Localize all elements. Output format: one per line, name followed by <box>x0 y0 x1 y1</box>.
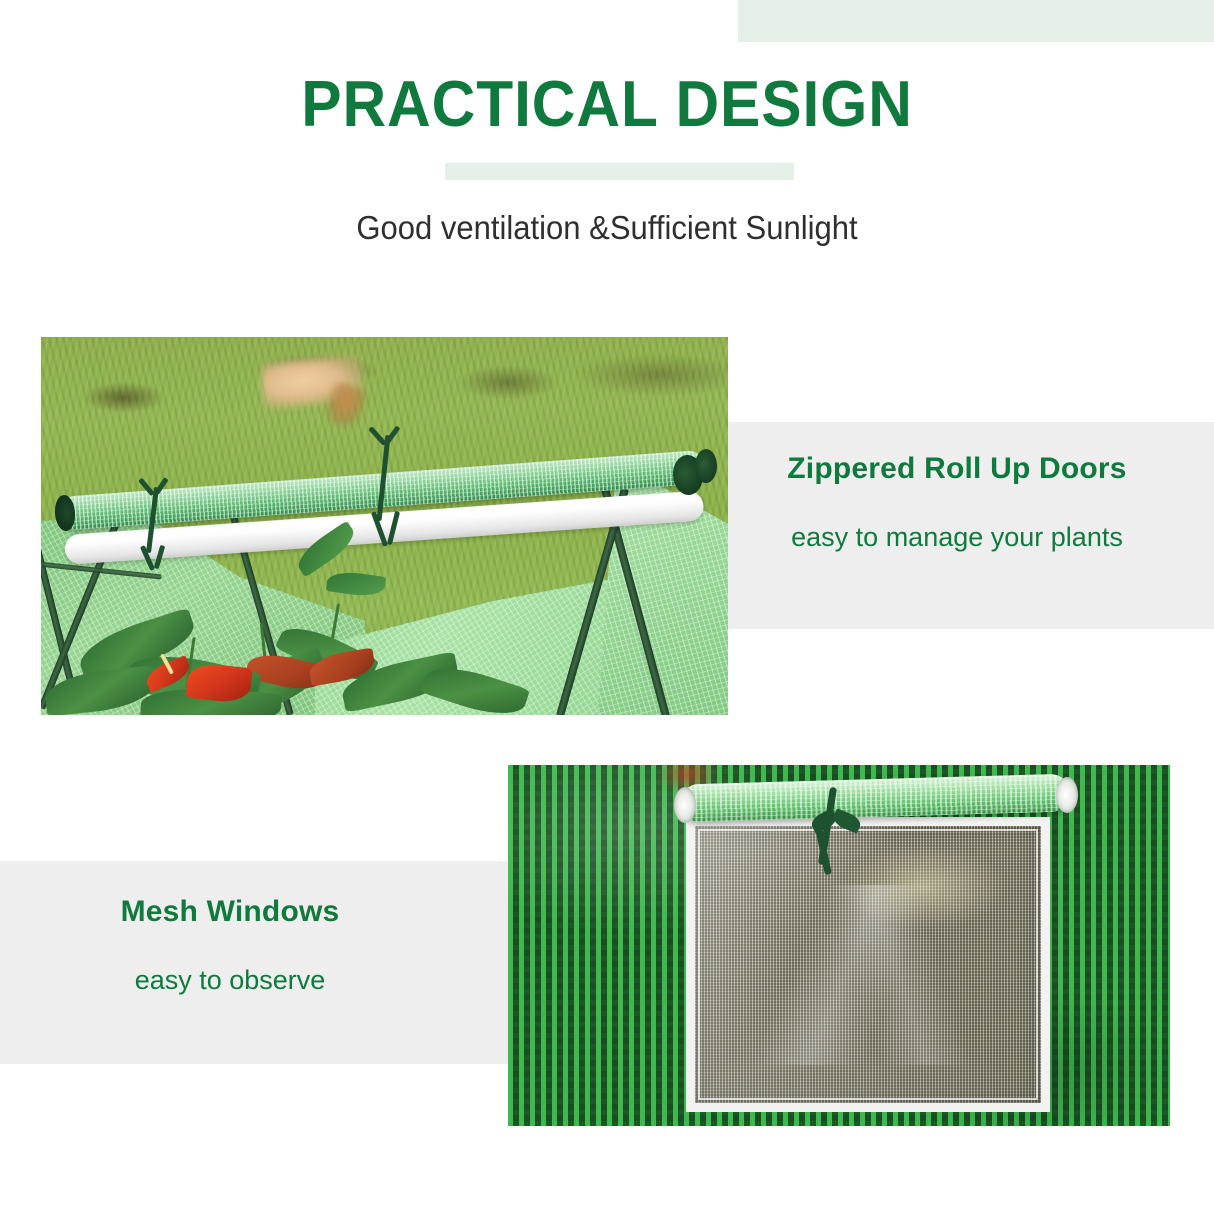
photo-zippered-roll-up-doors <box>41 337 728 715</box>
feature-subtext: easy to observe <box>0 965 460 996</box>
feature-heading: Mesh Windows <box>0 895 460 929</box>
caption-zippered-roll-up-doors: Zippered Roll Up Doors easy to manage yo… <box>700 452 1214 553</box>
top-right-accent-block <box>738 0 1214 42</box>
feature-subtext: easy to manage your plants <box>700 522 1214 553</box>
window-cover-end-left <box>674 787 696 823</box>
title-underline-bar <box>445 163 794 180</box>
window-cover-end-right <box>1056 777 1078 813</box>
photo-mesh-windows <box>508 765 1170 1126</box>
caption-mesh-windows: Mesh Windows easy to observe <box>0 895 460 996</box>
mesh-window-inner-border <box>698 829 1038 1100</box>
page-subtitle: Good ventilation &Sufficient Sunlight <box>36 209 1177 247</box>
infographic-page: PRACTICAL DESIGN Good ventilation &Suffi… <box>0 0 1214 1214</box>
feature-heading: Zippered Roll Up Doors <box>700 452 1214 486</box>
page-title: PRACTICAL DESIGN <box>42 66 1171 141</box>
mesh-window-panel <box>686 817 1050 1112</box>
